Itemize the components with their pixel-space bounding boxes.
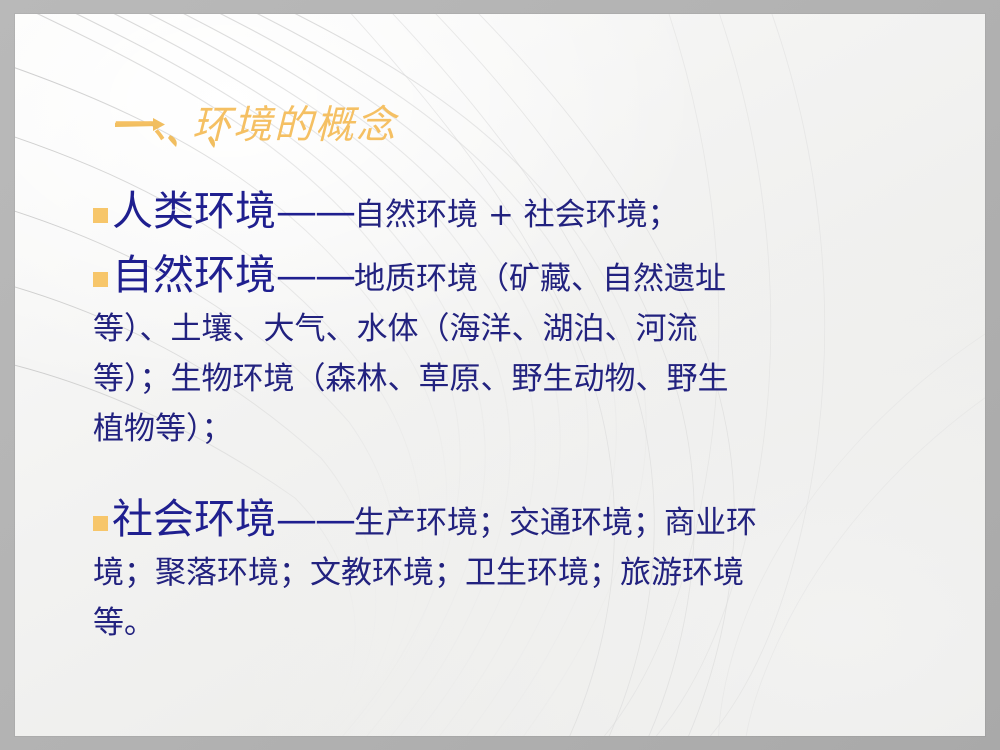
bullet-item-social-environment: 社会环境——生产环境；交通环境；商业环 境；聚落环境；文教环境；卫生环境；旅游环…	[93, 494, 948, 648]
bullet-dash: ——	[276, 187, 354, 235]
bullet-line: 自然环境 + 社会环境；	[354, 197, 679, 233]
bullet-lead-term: 自然环境	[112, 251, 276, 299]
square-bullet-icon	[93, 516, 108, 531]
slide-body: 人类环境——自然环境 + 社会环境； 自然环境——地质环境（矿藏、自然遗址 等）…	[93, 186, 948, 658]
bullet-lead-term: 人类环境	[112, 187, 276, 235]
bullet-line: 等）、土壤、大气、水体（海洋、湖泊、河流	[93, 304, 948, 354]
slide-outer-frame: 一、环境的概念 人类环境——自然环境 + 社会环境； 自然环境——地质环境（矿藏…	[0, 0, 1000, 750]
bullet-lead-term: 社会环境	[112, 495, 276, 543]
slide-canvas: 一、环境的概念 人类环境——自然环境 + 社会环境； 自然环境——地质环境（矿藏…	[15, 14, 985, 736]
bullet-line: 境；聚落环境；文教环境；卫生环境；旅游环境	[93, 548, 948, 598]
bullet-line: 植物等）；	[93, 404, 948, 454]
bullet-dash: ——	[276, 495, 354, 543]
square-bullet-icon	[93, 272, 108, 287]
bullet-item-natural-environment: 自然环境——地质环境（矿藏、自然遗址 等）、土壤、大气、水体（海洋、湖泊、河流 …	[93, 250, 948, 454]
page-title: 一、环境的概念	[110, 102, 397, 150]
bullet-line: 生产环境；交通环境；商业环	[354, 505, 757, 541]
bullet-line: 等。	[93, 598, 948, 648]
bullet-dash: ——	[276, 251, 354, 299]
bullet-line: 地质环境（矿藏、自然遗址	[354, 261, 726, 297]
bullet-line: 等）；生物环境（森林、草原、野生动物、野生	[93, 354, 948, 404]
bullet-item-human-environment: 人类环境——自然环境 + 社会环境；	[93, 186, 948, 240]
square-bullet-icon	[93, 208, 108, 223]
